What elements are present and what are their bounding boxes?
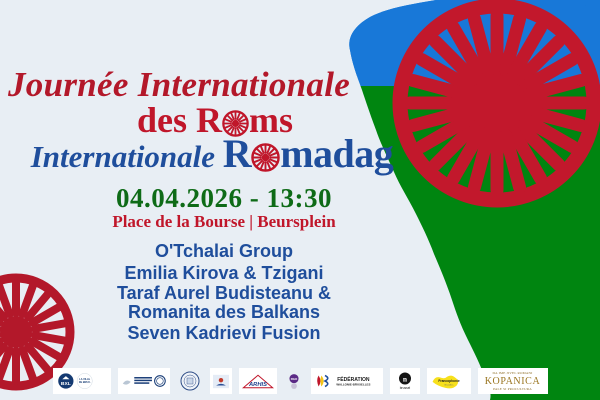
event-venue: Place de la Bourse | Beursplein — [0, 212, 448, 232]
logo-kopanica[interactable]: DA IME JIVEL ROMANI KOPANICA PALE SI PRO… — [478, 368, 548, 394]
svg-text:Bruxelles: Bruxelles — [444, 384, 453, 386]
svg-text:BXL: BXL — [60, 381, 70, 387]
title-romadag-tail: madag — [280, 131, 393, 176]
svg-text:DE BRUX.: DE BRUX. — [78, 381, 90, 384]
event-date-time: 04.04.2026 - 13:30 — [0, 183, 448, 213]
title-romadag-r: R — [223, 131, 251, 176]
svg-text:FÉDÉRATION: FÉDÉRATION — [337, 375, 370, 383]
poster-text-block: Journée Internationale des Rms Internati… — [0, 0, 448, 358]
poster-canvas: Journée Internationale des Rms Internati… — [0, 0, 600, 400]
logo-university-seal[interactable] — [177, 368, 203, 394]
logo-arhis[interactable]: ARHIS — [239, 368, 277, 394]
logo-brussels-region[interactable] — [118, 368, 170, 394]
performer-lineup: O'Tchalai Group Emilia Kirova & Tzigani … — [0, 240, 448, 344]
logo-emblem[interactable] — [210, 368, 232, 394]
svg-text:Francophonie: Francophonie — [438, 379, 459, 383]
title-line-internationale-romadag: Internationale Rmadag — [0, 134, 438, 181]
sponsor-logo-strip: BXL LA VILLE DE BRUX. — [0, 362, 600, 400]
lineup-item: Romanita des Balkans — [0, 303, 448, 322]
svg-text:ARHIS: ARHIS — [248, 381, 267, 387]
kopanica-tagline-bottom: PALE SI PROCULTURA — [485, 387, 541, 392]
svg-text:LA VILLE: LA VILLE — [79, 378, 90, 381]
kopanica-wordmark: KOPANICA — [485, 376, 541, 387]
lineup-item: Emilia Kirova & Tzigani — [0, 262, 448, 284]
kopanica-tagline-top: DA IME JIVEL ROMANI — [485, 371, 541, 376]
logo-federation-wallonie-bruxelles[interactable]: FÉDÉRATION WALLONIE-BRUXELLES — [311, 368, 383, 394]
svg-text:WALLONIE-BRUXELLES: WALLONIE-BRUXELLES — [336, 383, 370, 387]
roma-chakra-icon-romadag — [251, 142, 280, 182]
svg-text:brussel: brussel — [399, 386, 410, 390]
title-internationale-nl: Internationale — [31, 139, 223, 174]
logo-brussel-vgc[interactable]: n brussel — [390, 368, 420, 394]
title-line-journee-internationale: Journée Internationale — [8, 66, 438, 104]
logo-rgo[interactable]: RGO — [284, 368, 304, 394]
lineup-item: O'Tchalai Group — [0, 240, 448, 262]
logo-bxl-ville-de-bruxelles[interactable]: BXL LA VILLE DE BRUX. — [53, 368, 111, 394]
lineup-item: Taraf Aurel Budisteanu & — [0, 284, 448, 303]
logo-francophonie[interactable]: Francophonie Bruxelles — [427, 368, 471, 394]
lineup-item: Seven Kadrievi Fusion — [0, 322, 448, 344]
svg-text:RGO: RGO — [290, 376, 297, 380]
